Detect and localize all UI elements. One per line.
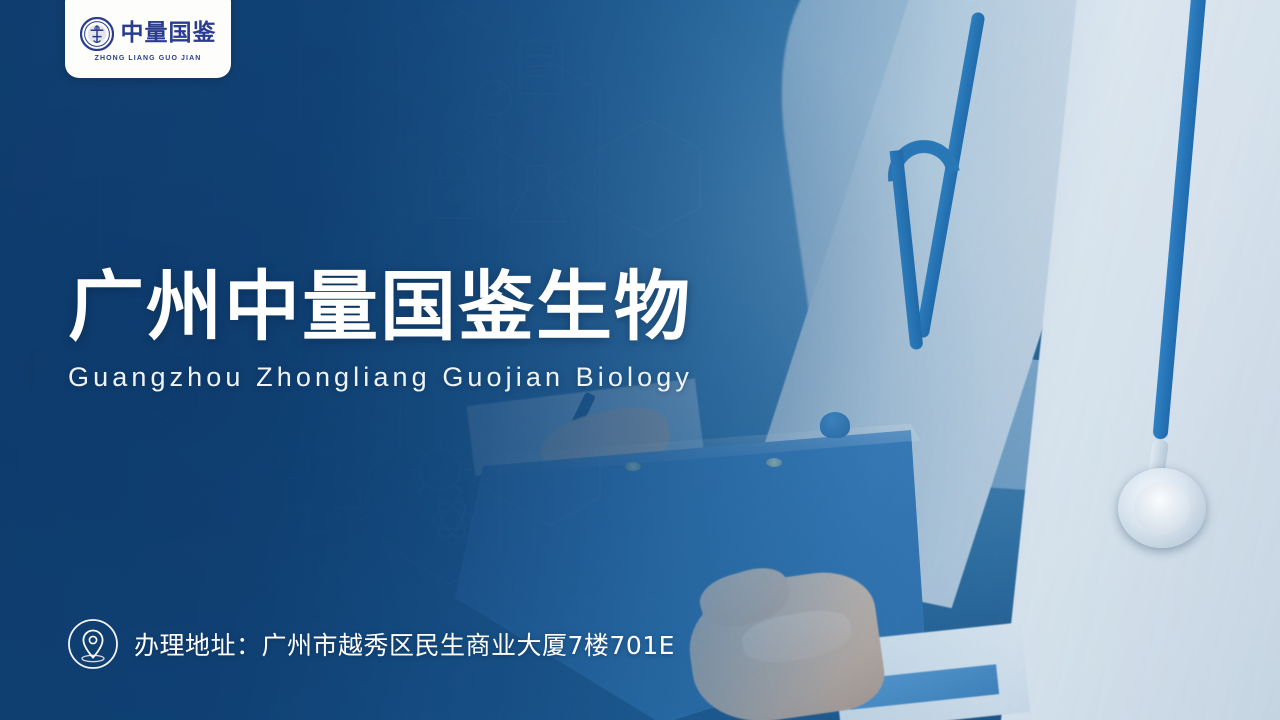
- logo-pinyin-name: ZHONG LIANG GUO JIAN: [95, 55, 202, 62]
- page-title: 广州中量国鉴生物: [68, 268, 888, 346]
- page-subtitle: Guangzhou Zhongliang Guojian Biology: [68, 362, 888, 393]
- banner-slide: 中量国鉴 ZHONG LIANG GUO JIAN 广州中量国鉴生物 Guang…: [0, 0, 1280, 720]
- logo-badge[interactable]: 中量国鉴 ZHONG LIANG GUO JIAN: [65, 0, 231, 78]
- location-pin-icon: [66, 617, 120, 671]
- address-block: 办理地址：广州市越秀区民生商业大厦7楼701E: [66, 617, 675, 671]
- logo-row: 中量国鉴: [80, 17, 217, 51]
- logo-chinese-name: 中量国鉴: [121, 22, 217, 45]
- office-address-text: 办理地址：广州市越秀区民生商业大厦7楼701E: [134, 626, 675, 662]
- company-seal-emblem-icon: [80, 17, 114, 51]
- headline-block: 广州中量国鉴生物 Guangzhou Zhongliang Guojian Bi…: [68, 268, 888, 393]
